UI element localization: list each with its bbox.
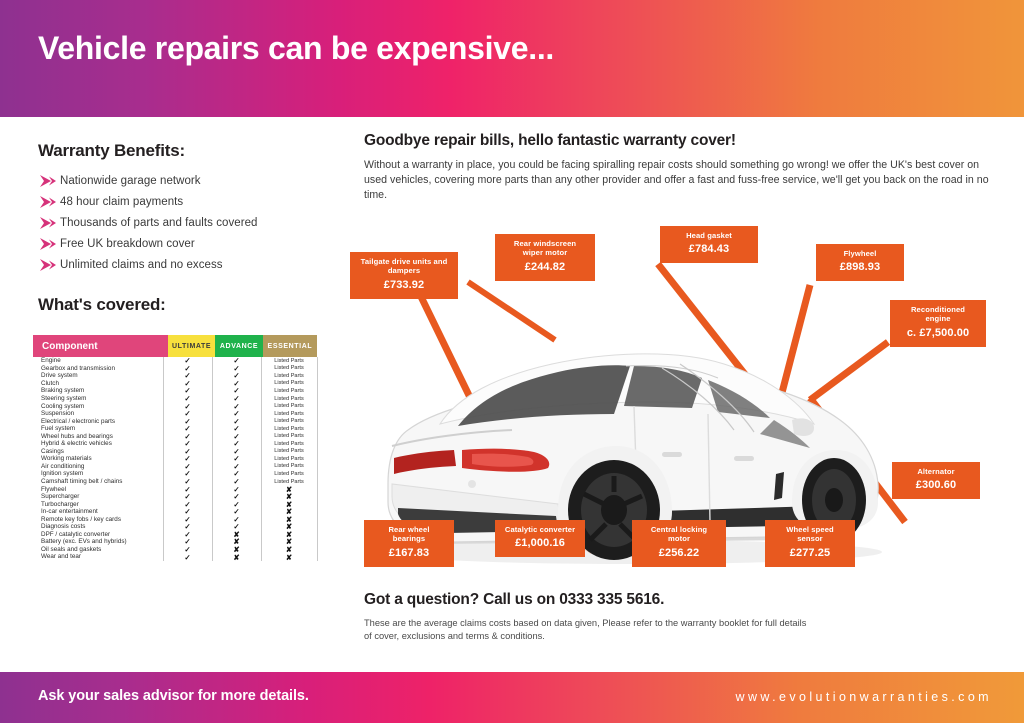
page-footer-banner: Ask your sales advisor for more details.… [0,672,1024,723]
cell-essential: Listed Parts [261,448,317,454]
callout-label: Reconditioned engine [899,305,977,324]
chevron-right-icon [38,195,58,209]
right-column: Goodbye repair bills, hello fantastic wa… [340,117,1024,663]
callout-rear-windscreen-wiper-motor[interactable]: Rear windscreen wiper motor £244.82 [495,234,595,281]
callout-label: Tailgate drive units and dampers [359,257,449,276]
callout-catalytic-converter[interactable]: Catalytic converter £1,000.16 [495,520,585,557]
cell-essential: ✘ [261,553,317,562]
callout-wheel-speed-sensor[interactable]: Wheel speed sensor £277.25 [765,520,855,567]
callout-price: £1,000.16 [504,536,576,550]
callout-label: Rear windscreen wiper motor [504,239,586,258]
leader-line-flywheel [778,285,810,408]
cell-essential: Listed Parts [261,471,317,477]
benefit-item: Nationwide garage network [38,170,328,191]
cell-component: Cooling system [33,403,163,410]
cell-essential: Listed Parts [261,418,317,424]
cell-component: Camshaft timing belt / chains [33,478,163,485]
leader-line-recon-engine [810,342,888,400]
callout-price: £784.43 [669,242,749,256]
cell-component: Suspension [33,410,163,417]
cell-essential: Listed Parts [261,456,317,462]
chevron-right-icon [38,174,58,188]
cell-essential: Listed Parts [261,411,317,417]
cta-heading: Got a question? Call us on 0333 335 5616… [364,591,664,609]
coverage-table-header-row: Component ULTIMATE ADVANCE ESSENTIAL [33,335,317,357]
cell-component: Electrical / electronic parts [33,418,163,425]
vehicle-parts-diagram: Tailgate drive units and dampers £733.92… [340,222,1024,582]
callout-label: Rear wheel bearings [373,525,445,544]
chevron-right-icon [38,237,58,251]
warranty-benefits-title: Warranty Benefits: [38,141,185,161]
cell-component: Flywheel [33,486,163,493]
benefit-item: Thousands of parts and faults covered [38,212,328,233]
callout-price: £898.93 [825,260,895,274]
callout-label: Wheel speed sensor [774,525,846,544]
cell-essential: Listed Parts [261,380,317,386]
cell-essential: Listed Parts [261,365,317,371]
callout-price: £277.25 [774,546,846,560]
cell-component: Battery (exc. EVs and hybrids) [33,538,163,545]
cell-essential: Listed Parts [261,388,317,394]
benefit-item-label: Free UK breakdown cover [60,238,195,250]
page-title: Vehicle repairs can be expensive... [38,30,554,67]
cell-component: In-car entertainment [33,508,163,515]
main-heading: Goodbye repair bills, hello fantastic wa… [364,132,736,150]
cell-essential: Listed Parts [261,463,317,469]
callout-label: Central locking motor [641,525,717,544]
cell-essential: Listed Parts [261,358,317,364]
whats-covered-title: What's covered: [38,295,166,315]
cell-essential: Listed Parts [261,426,317,432]
cell-component: Ignition system [33,470,163,477]
cell-component: DPF / catalytic converter [33,531,163,538]
benefit-item-label: Unlimited claims and no excess [60,259,223,271]
table-row: Wear and tear✓✘✘ [33,553,317,561]
callout-label: Head gasket [669,231,749,240]
footer-message: Ask your sales advisor for more details. [38,688,309,704]
cell-component: Oil seals and gaskets [33,546,163,553]
cell-component: Wheel hubs and bearings [33,433,163,440]
table-column-divider [317,357,318,561]
footer-website[interactable]: www.evolutionwarranties.com [736,690,992,704]
main-paragraph: Without a warranty in place, you could b… [364,158,994,202]
cell-component: Working materials [33,455,163,462]
table-column-divider [212,357,213,561]
callout-price: £167.83 [373,546,445,560]
callout-tailgate-drive-units[interactable]: Tailgate drive units and dampers £733.92 [350,252,458,299]
table-column-divider [261,357,262,561]
callout-price: c. £7,500.00 [899,326,977,340]
cell-component: Diagnosis costs [33,523,163,530]
callout-label: Alternator [901,467,971,476]
cell-component: Steering system [33,395,163,402]
warranty-benefits-list: Nationwide garage network48 hour claim p… [38,170,328,275]
callout-head-gasket[interactable]: Head gasket £784.43 [660,226,758,263]
callout-label: Flywheel [825,249,895,258]
callout-rear-wheel-bearings[interactable]: Rear wheel bearings £167.83 [364,520,454,567]
callout-alternator[interactable]: Alternator £300.60 [892,462,980,499]
cell-component: Casings [33,448,163,455]
cell-component: Remote key fobs / key cards [33,516,163,523]
coverage-table-body: Engine✓✓Listed PartsGearbox and transmis… [33,357,317,561]
benefit-item: Unlimited claims and no excess [38,254,328,275]
cell-essential: Listed Parts [261,433,317,439]
callout-flywheel[interactable]: Flywheel £898.93 [816,244,904,281]
cell-component: Fuel system [33,425,163,432]
page-header-banner: Vehicle repairs can be expensive... [0,0,1024,117]
benefit-item-label: 48 hour claim payments [60,196,183,208]
column-header-essential: ESSENTIAL [263,335,317,357]
cell-component: Gearbox and transmission [33,365,163,372]
table-column-divider [163,357,164,561]
callout-price: £256.22 [641,546,717,560]
cell-component: Braking system [33,387,163,394]
benefit-item: 48 hour claim payments [38,191,328,212]
brochure-page: Vehicle repairs can be expensive... Warr… [0,0,1024,723]
cell-component: Air conditioning [33,463,163,470]
column-header-component: Component [33,335,168,357]
cell-component: Drive system [33,372,163,379]
cta-subtext: These are the average claims costs based… [364,617,814,642]
callout-price: £300.60 [901,478,971,492]
cell-component: Supercharger [33,493,163,500]
cell-ultimate: ✓ [163,553,212,562]
chevron-right-icon [38,258,58,272]
column-header-ultimate: ULTIMATE [168,335,215,357]
cell-component: Hybrid & electric vehicles [33,440,163,447]
callout-price: £733.92 [359,278,449,292]
cell-component: Engine [33,357,163,364]
cell-advance: ✘ [212,553,261,562]
leader-line-wiper [468,282,555,340]
benefit-item: Free UK breakdown cover [38,233,328,254]
chevron-right-icon [38,216,58,230]
cell-essential: Listed Parts [261,403,317,409]
callout-price: £244.82 [504,260,586,274]
cell-essential: Listed Parts [261,441,317,447]
benefit-item-label: Thousands of parts and faults covered [60,217,257,229]
cell-component: Wear and tear [33,553,163,560]
cell-component: Turbocharger [33,501,163,508]
left-column: Warranty Benefits: Nationwide garage net… [0,117,340,663]
cell-essential: Listed Parts [261,373,317,379]
cell-component: Clutch [33,380,163,387]
callout-reconditioned-engine[interactable]: Reconditioned engine c. £7,500.00 [890,300,986,347]
column-header-advance: ADVANCE [215,335,262,357]
callout-central-locking-motor[interactable]: Central locking motor £256.22 [632,520,726,567]
benefit-item-label: Nationwide garage network [60,175,201,187]
callout-label: Catalytic converter [504,525,576,534]
coverage-table: Component ULTIMATE ADVANCE ESSENTIAL Eng… [33,335,317,561]
cell-essential: Listed Parts [261,396,317,402]
